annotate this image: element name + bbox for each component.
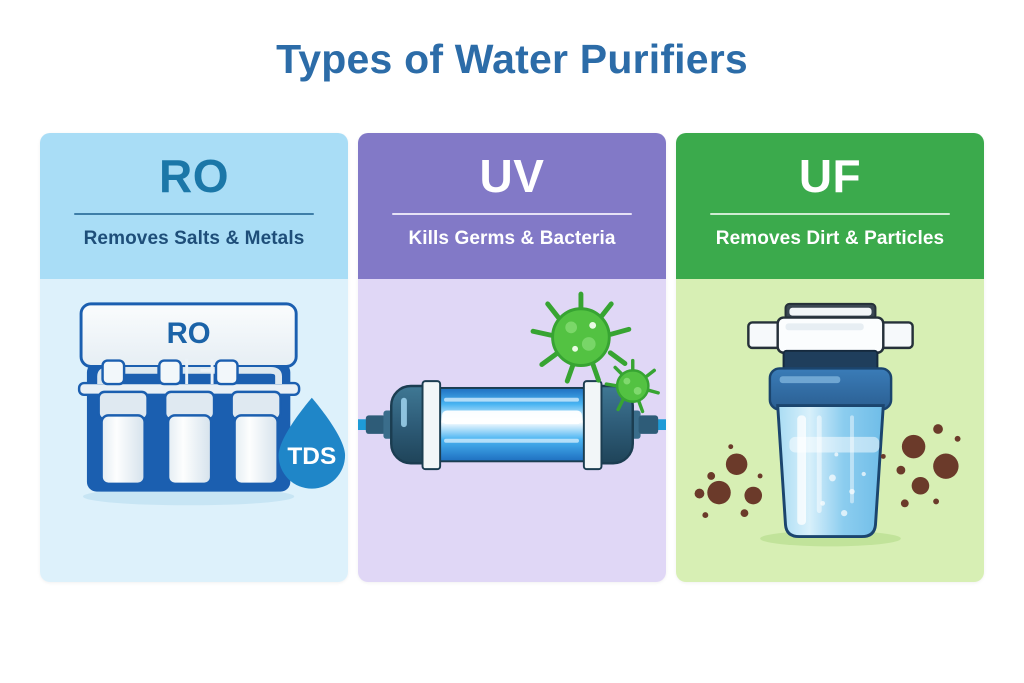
page-title: Types of Water Purifiers: [0, 36, 1024, 83]
uf-water-line: [789, 437, 879, 453]
uv-clamp-left: [423, 381, 441, 469]
uf-housing-ring: [770, 368, 891, 409]
tds-label: TDS: [287, 443, 336, 470]
uf-cap-highlight: [786, 323, 864, 330]
panel-ro-body: RO: [40, 279, 348, 582]
uv-clamp-right: [584, 381, 602, 469]
ro-valve-2: [159, 361, 181, 384]
panel-ro-divider: [74, 213, 314, 215]
uf-bowl-highlight-1: [797, 415, 806, 525]
panel-uf[interactable]: UF Removes Dirt & Particles: [676, 133, 984, 582]
ro-cartridge-3: [232, 392, 281, 484]
uv-lamp-streak-bottom: [444, 439, 579, 443]
panel-ro-header: RO Removes Salts & Metals: [40, 133, 348, 279]
panel-uf-divider: [710, 213, 950, 215]
panel-uv[interactable]: UV Kills Germs & Bacteria: [358, 133, 666, 582]
panel-uf-subtitle: Removes Dirt & Particles: [676, 228, 984, 250]
uv-lamp-chamber-illustration: [358, 279, 666, 582]
uf-ring-highlight: [780, 376, 841, 383]
panel-ro-code: RO: [40, 147, 348, 205]
panel-uv-header: UV Kills Germs & Bacteria: [358, 133, 666, 279]
uf-filter-housing-illustration: [676, 279, 984, 582]
ro-valve-1: [103, 361, 125, 384]
ro-cartridge-1: [99, 392, 148, 484]
uv-lamp-core-glow: [442, 410, 582, 424]
panel-uv-body: uv-lamp-chamber-illustration: [358, 279, 666, 582]
ro-device-label: RO: [167, 317, 211, 350]
uf-top-bar-inlay: [789, 308, 871, 316]
uf-bowl-highlight-2: [817, 415, 822, 513]
ro-cartridge-2: [165, 392, 214, 484]
ro-purifier-illustration: RO: [40, 279, 348, 582]
ro-valve-3: [216, 361, 238, 384]
infographic-canvas: Types of Water Purifiers RO Removes Salt…: [0, 0, 1024, 683]
dirt-particles-left: [695, 444, 763, 518]
panel-ro[interactable]: RO Removes Salts & Metals: [40, 133, 348, 582]
panel-uf-header: UF Removes Dirt & Particles: [676, 133, 984, 279]
panel-uf-body: uf-filter-housing-illustration: [676, 279, 984, 582]
panel-uv-code: UV: [358, 147, 666, 205]
panel-uf-code: UF: [676, 147, 984, 205]
uf-housing-cap: [778, 318, 884, 353]
panel-ro-subtitle: Removes Salts & Metals: [40, 228, 348, 250]
uv-lamp-streak-top: [444, 398, 579, 402]
panel-uv-divider: [392, 213, 632, 215]
purifier-panels-row: RO Removes Salts & Metals: [40, 133, 984, 582]
uf-bowl: [778, 406, 884, 537]
panel-uv-subtitle: Kills Germs & Bacteria: [358, 228, 666, 250]
dirt-particles-right: [881, 424, 961, 507]
uv-highlight-left: [401, 398, 407, 427]
